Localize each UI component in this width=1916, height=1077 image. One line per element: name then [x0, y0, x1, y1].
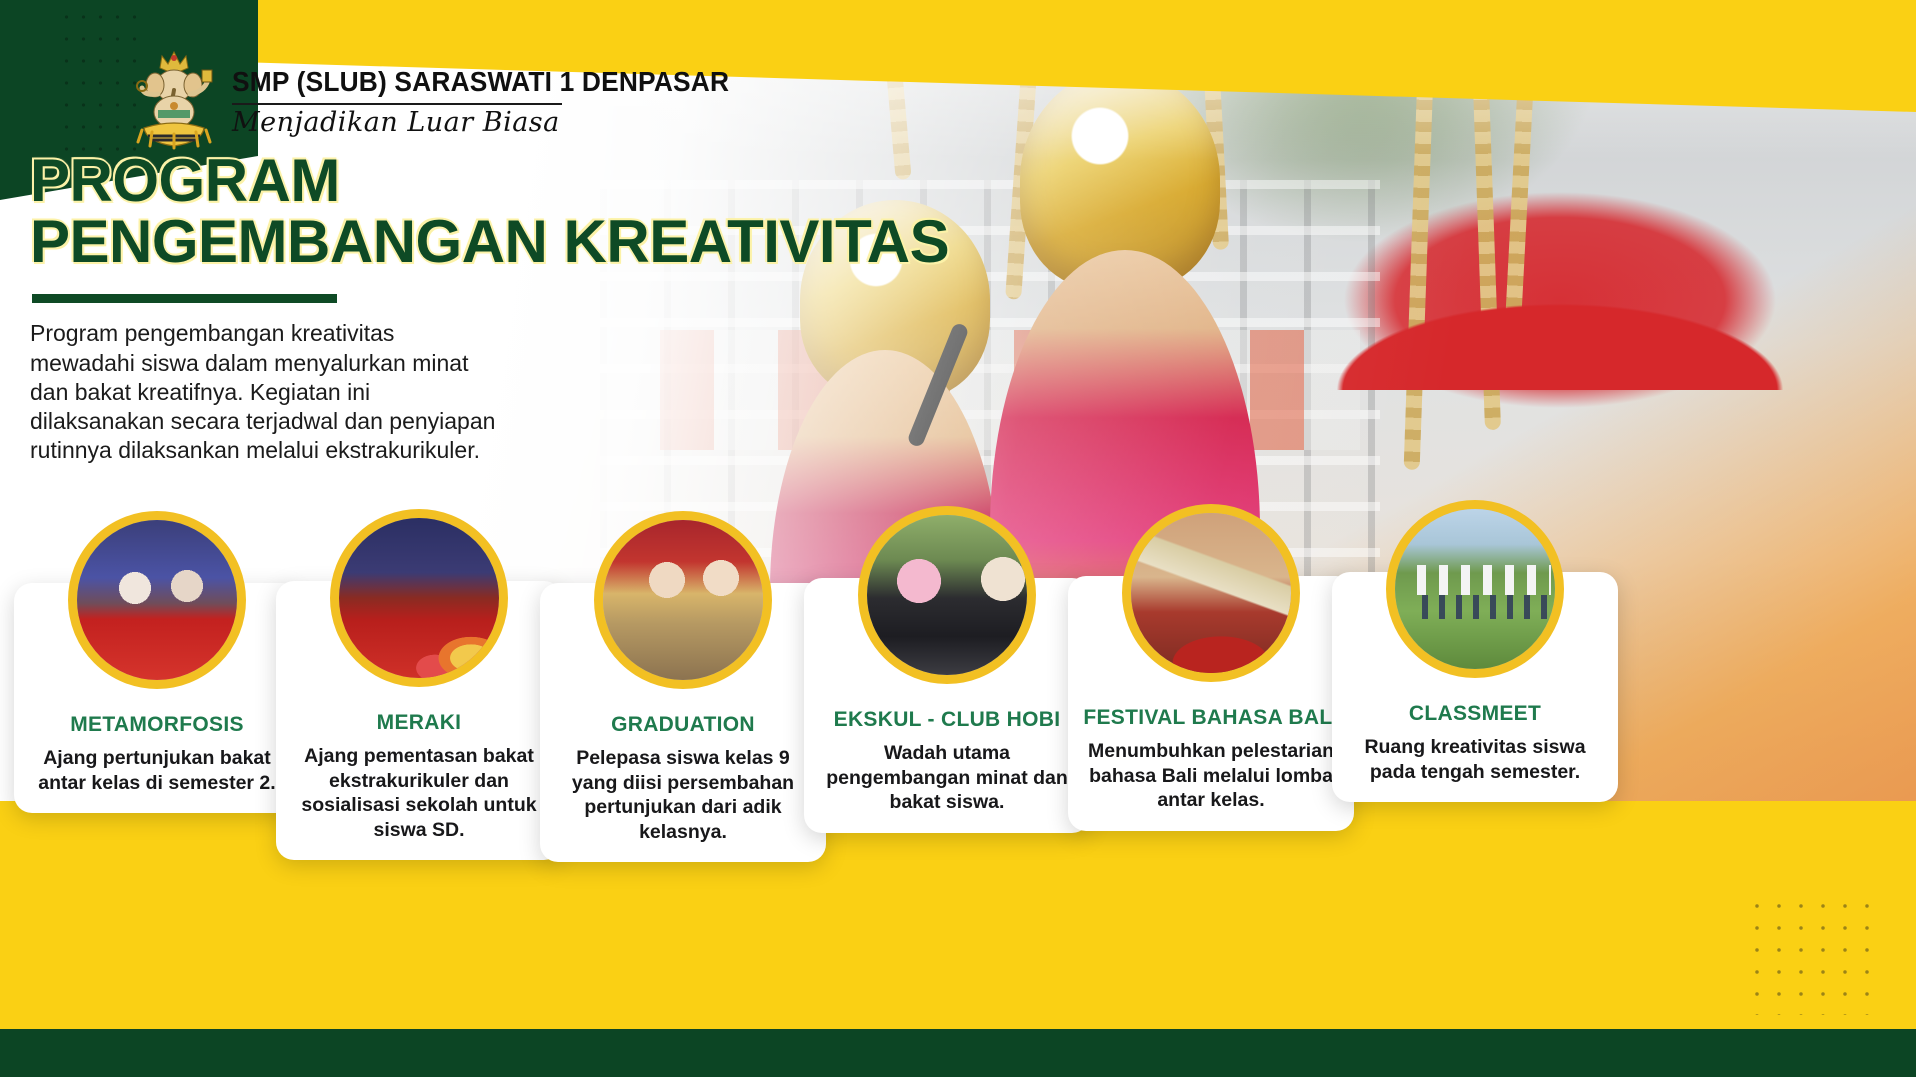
program-card[interactable]: MERAKI Ajang pementasan bakat ekstrakuri…	[276, 581, 562, 860]
program-card[interactable]: FESTIVAL BAHASA BALI Menumbuhkan pelesta…	[1068, 576, 1354, 831]
program-card[interactable]: EKSKUL - CLUB HOBI Wadah utama pengemban…	[804, 578, 1090, 833]
classmeet-photo	[1386, 500, 1564, 678]
metamorfosis-photo	[68, 511, 246, 689]
card-body: Ajang pertunjukan bakat antar kelas di s…	[28, 746, 286, 795]
card-body: Pelepasa siswa kelas 9 yang diisi persem…	[554, 746, 812, 844]
brand-divider	[232, 103, 562, 105]
page-title-line1: PROGRAM	[30, 150, 949, 211]
school-tagline: Menjadikan Luar Biasa	[232, 107, 761, 138]
page-title-line2: PENGEMBANGAN KREATIVITAS	[30, 211, 949, 272]
ekskul-photo	[858, 506, 1036, 684]
card-title: METAMORFOSIS	[28, 713, 286, 737]
school-name: SMP (SLUB) SARASWATI 1 DENPASAR	[232, 66, 729, 98]
title-description: Program pengembangan kreativitas mewadah…	[30, 319, 610, 465]
dot-pattern-decoration	[1746, 895, 1886, 1015]
card-title: FESTIVAL BAHASA BALI	[1082, 706, 1340, 730]
festival-photo	[1122, 504, 1300, 682]
meraki-photo	[330, 509, 508, 687]
program-card[interactable]: METAMORFOSIS Ajang pertunjukan bakat ant…	[14, 583, 300, 813]
title-underline	[32, 294, 337, 303]
card-body: Menumbuhkan pelestarian bahasa Bali mela…	[1082, 739, 1340, 813]
graduation-photo	[594, 511, 772, 689]
card-body: Wadah utama pengembangan minat dan bakat…	[818, 741, 1076, 815]
poster-canvas: SMP (SLUB) SARASWATI 1 DENPASAR Menjadik…	[0, 0, 1916, 1077]
brand-text-block: SMP (SLUB) SARASWATI 1 DENPASAR Menjadik…	[232, 62, 761, 138]
program-card[interactable]: GRADUATION Pelepasa siswa kelas 9 yang d…	[540, 583, 826, 862]
title-block: PROGRAM PENGEMBANGAN KREATIVITAS Program…	[30, 150, 949, 465]
program-card[interactable]: CLASSMEET Ruang kreativitas siswa pada t…	[1332, 572, 1618, 802]
ganesha-icon	[128, 48, 220, 152]
card-body: Ruang kreativitas siswa pada tengah seme…	[1346, 735, 1604, 784]
card-title: MERAKI	[290, 711, 548, 735]
card-body: Ajang pementasan bakat ekstrakurikuler d…	[290, 744, 548, 842]
card-title: EKSKUL - CLUB HOBI	[818, 708, 1076, 732]
brand-header: SMP (SLUB) SARASWATI 1 DENPASAR Menjadik…	[128, 48, 761, 152]
card-title: CLASSMEET	[1346, 702, 1604, 726]
bottom-green-strip	[0, 1029, 1916, 1077]
card-title: GRADUATION	[554, 713, 812, 737]
